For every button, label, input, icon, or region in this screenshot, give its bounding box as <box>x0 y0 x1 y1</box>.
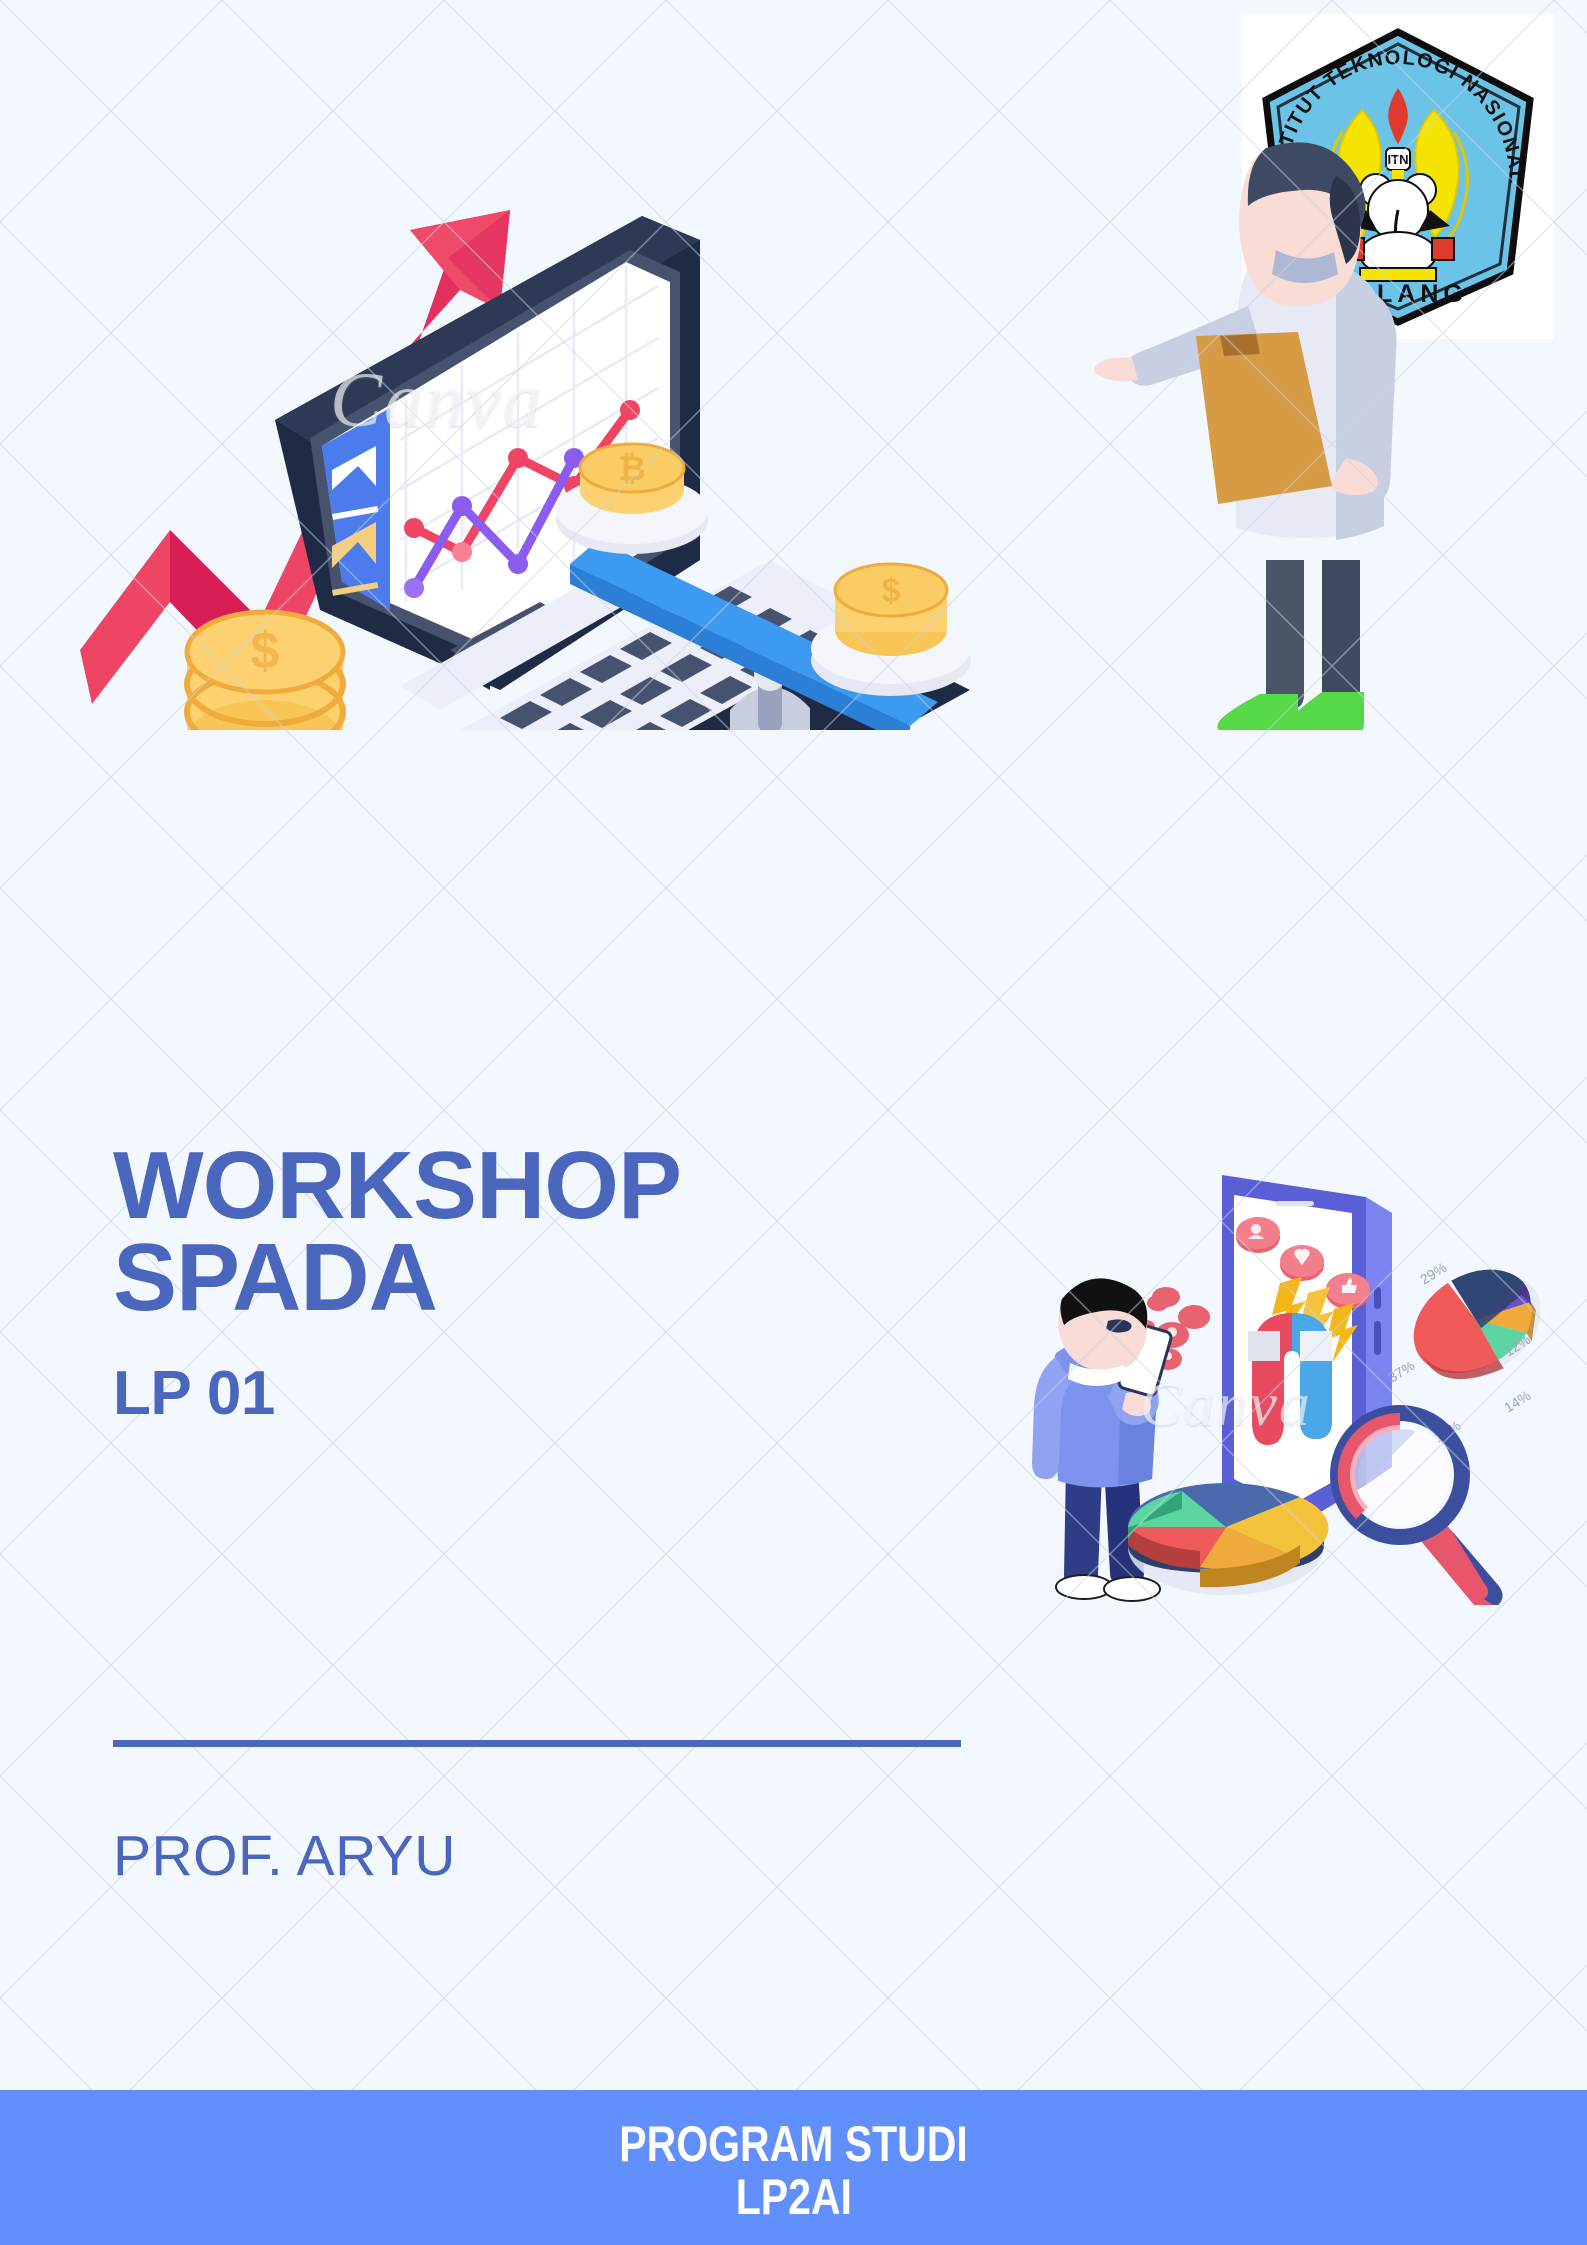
clipboard-clip <box>1220 334 1260 356</box>
author-name: PROF. ARYU <box>113 1823 456 1889</box>
footer-band: PROGRAM STUDI LP2AI <box>0 2090 1587 2245</box>
phone-speaker <box>1276 1201 1314 1206</box>
social-illustration-svg: 29% 12% 14% 18% 37% <box>1000 1175 1540 1605</box>
title-block: WORKSHOP SPADA LP 01 <box>113 1140 1013 1429</box>
section-divider <box>113 1740 961 1747</box>
phone-person-shoe-right <box>1104 1577 1160 1601</box>
coin-symbol-right: $ <box>882 572 901 610</box>
hero-analytics-illustration: $ ₿ <box>70 90 1540 730</box>
bitcoin-symbol: ₿ <box>618 450 646 488</box>
page-title: WORKSHOP SPADA <box>113 1140 1013 1324</box>
magnet-pole-left <box>1248 1331 1280 1361</box>
page-subtitle: LP 01 <box>113 1358 1013 1429</box>
pie-label-14: 14% <box>1501 1387 1533 1415</box>
footer-line-1: PROGRAM STUDI <box>619 2118 968 2171</box>
coin-stack-icon: $ <box>187 612 343 730</box>
magnet-pole-right <box>1300 1331 1332 1361</box>
phone-button-volume-down <box>1374 1321 1381 1355</box>
cover-page: ITN INSTITUT TEKNOLOGI NASIONAL MALANG <box>0 0 1587 2245</box>
pie-label-29: 29% <box>1417 1259 1449 1287</box>
magnifying-glass-icon <box>1338 1413 1503 1605</box>
footer-line-2: LP2AI <box>735 2171 851 2224</box>
social-marketing-illustration: 29% 12% 14% 18% 37% <box>1000 1175 1540 1605</box>
phone-button-volume-up <box>1374 1287 1381 1309</box>
coin-currency-symbol: $ <box>251 622 280 680</box>
person-leg-right <box>1322 560 1360 704</box>
person-leg-left <box>1266 560 1304 708</box>
exploded-pie-chart <box>1395 1246 1540 1403</box>
hero-illustration-svg: $ ₿ <box>70 90 1540 730</box>
person-hand-left <box>1094 358 1138 382</box>
pie-chart-3d <box>1128 1483 1329 1595</box>
businessman-figure <box>1094 142 1396 730</box>
